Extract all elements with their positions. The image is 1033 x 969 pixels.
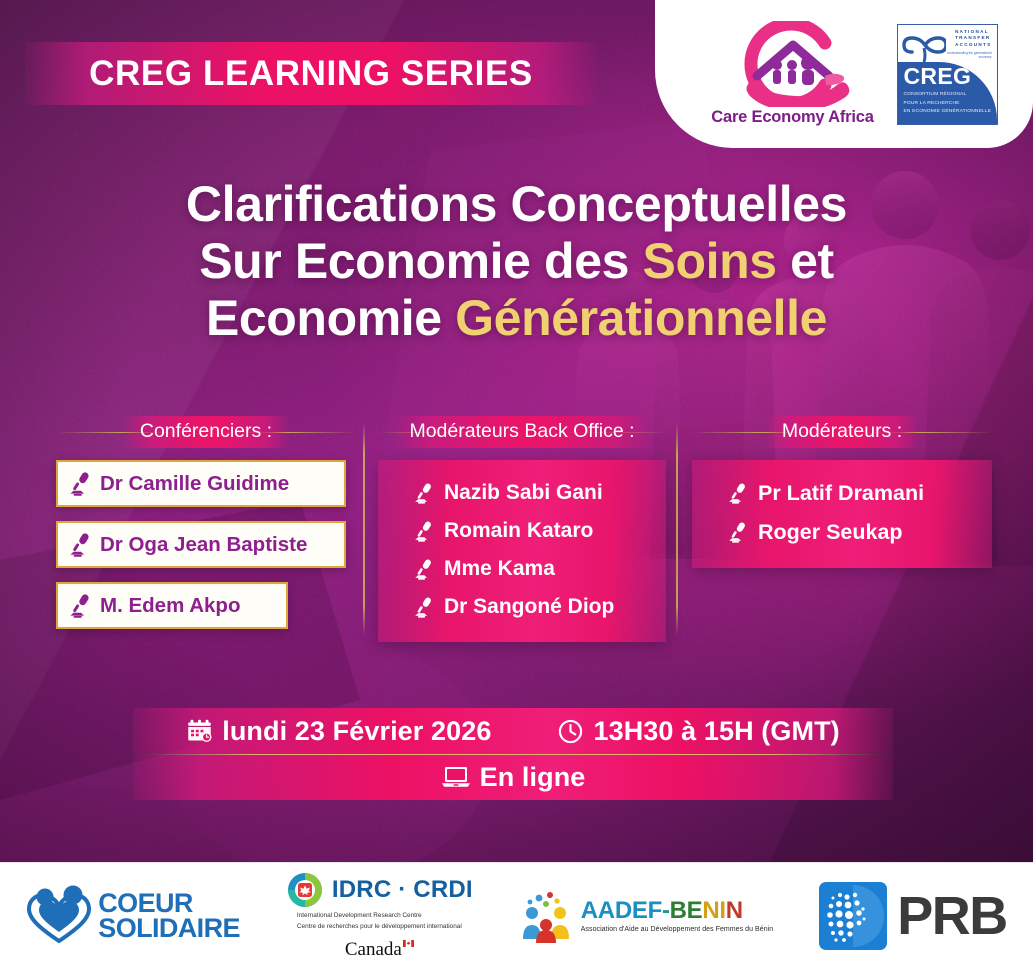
creg-nta-section: NATIONAL TRANSFER ACCOUNTS Understanding…: [898, 25, 997, 67]
microphone-icon: [728, 521, 747, 544]
moderateurs-back-office-panel: Nazib Sabi Gani Romain Kataro: [378, 460, 666, 642]
person-row[interactable]: Nazib Sabi Gani: [378, 474, 666, 512]
person-card[interactable]: M. Edem Akpo: [56, 582, 288, 629]
header-logo-panel: Care Economy Africa NATIONAL TRANSFER AC…: [655, 0, 1033, 148]
creg-nta-tagline: Understanding the generational economy: [940, 51, 992, 60]
microphone-icon: [414, 520, 433, 543]
aadef-part-5: N: [726, 897, 743, 924]
column-moderateurs: Modérateurs : Pr Latif Dramani: [692, 415, 992, 568]
event-time: 13H30 à 15H (GMT): [557, 716, 839, 747]
care-economy-africa-logo: Care Economy Africa: [709, 21, 877, 127]
clock-icon: [557, 718, 584, 745]
title-line-2-tail: et: [777, 233, 834, 289]
person-card[interactable]: Dr Oga Jean Baptiste: [56, 521, 346, 568]
person-row[interactable]: Mme Kama: [378, 550, 666, 588]
column-moderateurs-back-office-header: Modérateurs Back Office :: [378, 415, 666, 449]
person-name: Dr Sangoné Diop: [444, 595, 614, 619]
aadef-subtitle: Association d'Aide au Développement des …: [581, 926, 773, 933]
person-name: Romain Kataro: [444, 519, 593, 543]
prb-globe-icon: [819, 882, 887, 950]
aadef-benin-label: AADEF-BENIN: [581, 899, 773, 923]
creg-blue-block: CREG CONSORTIUM RÉGIONAL POUR LA RECHERC…: [898, 62, 997, 123]
aadef-people-icon: [519, 889, 573, 943]
aadef-part-3: BE: [670, 897, 703, 924]
idrc-crdi-logo: IDRC · CRDI International Development Re…: [286, 871, 473, 961]
title-line-1: Clarifications Conceptuelles: [0, 176, 1033, 233]
care-economy-africa-label: Care Economy Africa: [711, 108, 873, 127]
microphone-icon: [414, 596, 433, 619]
event-details-bar: lundi 23 Février 2026 13H30 à 15H (GMT): [133, 708, 893, 800]
creg-wordmark: CREG: [904, 65, 992, 88]
microphone-icon: [69, 532, 91, 558]
title-highlight-generationnelle: Générationnelle: [455, 290, 827, 346]
creg-nta-wordmark: NATIONAL TRANSFER ACCOUNTS: [955, 29, 991, 50]
column-divider-1: [363, 423, 365, 635]
idrc-top-row: IDRC · CRDI: [286, 871, 473, 909]
title-line-3-plain: Economie: [206, 290, 455, 346]
person-name: Pr Latif Dramani: [758, 481, 924, 506]
title-line-3: Economie Générationnelle: [0, 290, 1033, 347]
canada-label: Canada: [345, 939, 402, 960]
series-banner-label: CREG LEARNING SERIES: [89, 54, 533, 94]
canada-flag-icon: [403, 940, 414, 947]
column-moderateurs-back-office-label: Modérateurs Back Office :: [392, 416, 651, 448]
column-moderateurs-label: Modérateurs :: [765, 416, 919, 448]
person-name: Dr Oga Jean Baptiste: [100, 533, 307, 557]
person-name: Nazib Sabi Gani: [444, 481, 603, 505]
title-highlight-soins: Soins: [643, 233, 777, 289]
person-row[interactable]: Roger Seukap: [692, 513, 992, 552]
microphone-icon: [414, 482, 433, 505]
event-location-label: En ligne: [480, 762, 586, 793]
event-location-row: En ligne: [133, 755, 893, 800]
canada-wordmark: Canada: [345, 939, 414, 961]
laptop-icon: [441, 765, 471, 791]
coeur-solidaire-label: COEUR SOLIDAIRE: [98, 891, 240, 941]
event-date: lundi 23 Février 2026: [186, 716, 491, 747]
heart-family-icon: [26, 885, 92, 947]
title-line-2: Sur Economie des Soins et: [0, 233, 1033, 290]
column-moderateurs-header: Modérateurs :: [692, 415, 992, 449]
microphone-icon: [69, 593, 91, 619]
person-name: Dr Camille Guidime: [100, 472, 289, 496]
event-time-label: 13H30 à 15H (GMT): [593, 716, 839, 747]
microphone-icon: [69, 471, 91, 497]
idrc-globe-icon: [286, 871, 324, 909]
person-row[interactable]: Dr Sangoné Diop: [378, 588, 666, 626]
aadef-text-block: AADEF-BENIN Association d'Aide au Dévelo…: [581, 899, 773, 933]
person-row[interactable]: Romain Kataro: [378, 512, 666, 550]
moderateurs-panel: Pr Latif Dramani Roger Seukap: [692, 460, 992, 568]
microphone-icon: [414, 558, 433, 581]
creg-logo: NATIONAL TRANSFER ACCOUNTS Understanding…: [897, 24, 998, 125]
person-name: Mme Kama: [444, 557, 555, 581]
event-date-label: lundi 23 Février 2026: [222, 716, 491, 747]
event-title: Clarifications Conceptuelles Sur Economi…: [0, 176, 1033, 347]
column-conferenciers-header: Conférenciers :: [56, 415, 356, 449]
column-conferenciers-label: Conférenciers :: [123, 416, 289, 448]
microphone-icon: [728, 482, 747, 505]
prb-logo: PRB: [819, 882, 1007, 950]
aadef-part-4: NI: [702, 897, 725, 924]
event-location: En ligne: [441, 762, 586, 793]
coeur-solidaire-logo: COEUR SOLIDAIRE: [26, 885, 240, 947]
aadef-part-2: -: [662, 897, 670, 924]
series-banner: CREG LEARNING SERIES: [25, 42, 597, 105]
idrc-subtitle: International Development Research Centr…: [297, 911, 462, 932]
column-moderateurs-back-office: Modérateurs Back Office : Nazib Sabi Gan…: [378, 415, 666, 642]
house-in-hand-logo-icon: [729, 21, 857, 107]
people-section: Conférenciers : Dr Camille Guidime: [0, 415, 1033, 665]
aadef-benin-logo: AADEF-BENIN Association d'Aide au Dévelo…: [519, 889, 773, 943]
person-name: Roger Seukap: [758, 520, 903, 545]
column-divider-2: [676, 423, 678, 635]
partner-logos-footer: COEUR SOLIDAIRE IDRC · CRDI Internationa…: [0, 862, 1033, 969]
column-conferenciers: Conférenciers : Dr Camille Guidime: [56, 415, 356, 629]
calendar-icon: [186, 718, 213, 745]
person-name: M. Edem Akpo: [100, 594, 240, 618]
person-row[interactable]: Pr Latif Dramani: [692, 474, 992, 513]
idrc-crdi-label: IDRC · CRDI: [332, 876, 473, 904]
creg-subtitle: CONSORTIUM RÉGIONAL POUR LA RECHERCHE EN…: [904, 91, 992, 117]
person-card[interactable]: Dr Camille Guidime: [56, 460, 346, 507]
title-line-2-plain: Sur Economie des: [199, 233, 642, 289]
prb-label: PRB: [897, 889, 1007, 943]
poster-root: CREG LEARNING SERIES Care Economy Africa: [0, 0, 1033, 969]
nta-infinity-icon: [902, 30, 946, 66]
conferenciers-card-list: Dr Camille Guidime Dr Oga Jean Baptiste: [56, 460, 356, 629]
event-date-time-row: lundi 23 Février 2026 13H30 à 15H (GMT): [133, 708, 893, 754]
aadef-part-1: AADEF: [581, 897, 662, 924]
